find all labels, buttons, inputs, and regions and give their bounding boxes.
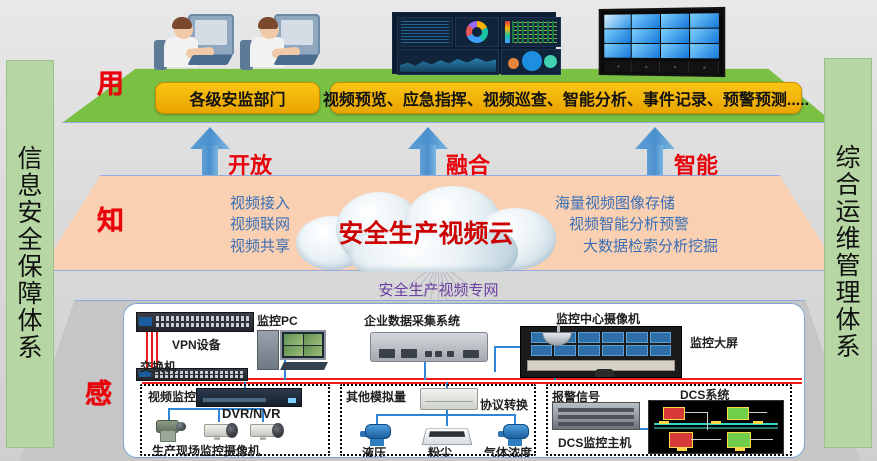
arrow-label-smart: 智能: [674, 148, 718, 180]
bullet-camera-icon: [204, 422, 238, 440]
group-item-gas: 气体浓度: [484, 444, 532, 458]
data-collector-icon: [370, 332, 488, 362]
group-item-dust: 粉尘: [428, 444, 452, 458]
dome-camera-icon: [542, 324, 572, 346]
panel-char: 系: [17, 335, 42, 362]
panel-char: 安: [17, 200, 42, 227]
bullet-camera-icon: [250, 422, 284, 440]
arrow-label-open: 开放: [228, 148, 272, 180]
cloud-label: 安全生产视频云: [288, 214, 564, 250]
dashboard-donut-panel: [455, 17, 499, 47]
dashboard-heatmap-panel: [501, 17, 561, 47]
bi-dashboard-illustration: [392, 12, 556, 74]
group-item-protocol: 协议转换: [480, 396, 528, 413]
group-title-analog: 其他模拟量: [346, 388, 406, 405]
cloud-left-item: 视频共享: [150, 236, 290, 257]
layer-label-zhi: 知: [97, 199, 124, 238]
panel-char: 息: [17, 173, 42, 200]
device-label-switch: 交换机: [140, 358, 176, 375]
cloud-right-item: 视频智能分析预警: [555, 214, 785, 235]
group-item-hydraulic: 液压: [362, 444, 386, 458]
device-label-vpn: VPN设备: [172, 336, 221, 353]
operators-illustration: [150, 8, 330, 72]
device-topology-panel: VPN设备 交换机 监控PC 企业数据采集系统 监控中心摄像机: [123, 303, 805, 458]
layer-label-gan: 感: [85, 372, 112, 411]
keyboard-icon: [187, 55, 232, 65]
device-label-collector: 企业数据采集系统: [364, 312, 460, 329]
panel-char: 全: [17, 227, 42, 254]
device-label-center-camera: 监控中心摄像机: [556, 310, 640, 327]
panel-char: 理: [835, 280, 860, 307]
operator-person: [150, 14, 236, 72]
panel-char: 障: [17, 281, 42, 308]
group-item-dcs-host: DCS监控主机: [558, 434, 631, 451]
group-item-site-cameras: 生产现场监控摄像机: [152, 442, 260, 458]
dashboard-table-panel: [397, 17, 453, 47]
cloud-left-items: 视频接入 视频联网 视频共享: [150, 193, 290, 257]
cloud-left-item: 视频联网: [150, 214, 290, 235]
cloud-shape: 安全生产视频云: [288, 186, 564, 270]
vpn-device-icon: [136, 312, 254, 332]
arrow-fuse: [408, 127, 448, 175]
panel-char: 运: [835, 199, 860, 226]
panel-char: 信: [17, 146, 42, 173]
network-label-text: 安全生产视频专网: [378, 282, 498, 299]
device-label-big-screen: 监控大屏: [690, 334, 738, 351]
video-wall-base: [604, 60, 719, 73]
network-label: 安全生产视频专网: [0, 279, 877, 300]
dept-box[interactable]: 各级安监部门: [155, 82, 320, 114]
side-panel-information-security: 信 息 安 全 保 障 体 系: [6, 60, 54, 448]
panel-char: 管: [835, 253, 860, 280]
panel-char: 保: [17, 254, 42, 281]
operator-person: [236, 14, 322, 72]
dvr-nvr-icon: [196, 388, 302, 407]
side-panel-operations-management: 综 合 运 维 管 理 体 系: [824, 58, 872, 448]
panel-char: 维: [835, 226, 860, 253]
group-title-video: 视频监控: [148, 388, 196, 405]
cloud-left-item: 视频接入: [150, 193, 290, 214]
function-box[interactable]: 视频预览、应急指挥、视频巡查、智能分析、事件记录、预警预测.....: [330, 82, 802, 114]
panel-char: 合: [835, 172, 860, 199]
hydraulic-sensor-icon: [360, 424, 394, 446]
panel-char: 体: [835, 307, 860, 334]
arrow-open: [190, 127, 230, 175]
pc-monitor-icon: [280, 330, 326, 360]
pc-keyboard-icon: [280, 362, 328, 370]
panel-char: 体: [17, 308, 42, 335]
ptz-camera-icon: [154, 420, 186, 442]
pc-tower-icon: [257, 330, 279, 370]
band-baseline: [62, 122, 834, 123]
panel-char: 综: [835, 145, 860, 172]
device-label-pc: 监控PC: [257, 312, 298, 329]
dust-sensor-icon: [422, 428, 473, 445]
arrow-smart: [635, 127, 675, 175]
dcs-scada-screen: [648, 400, 784, 454]
cloud-right-item: 大数据检索分析挖掘: [555, 236, 785, 257]
cloud-right-item: 海量视频图像存储: [555, 193, 785, 214]
video-wall-illustration: [599, 7, 726, 77]
arrow-label-fuse: 融合: [446, 148, 490, 180]
video-wall-grid: [604, 13, 719, 58]
dashboard-area-panel: [397, 49, 499, 75]
cloud-right-items: 海量视频图像存储 视频智能分析预警 大数据检索分析挖掘: [555, 193, 785, 257]
dashboard-bubble-panel: [501, 49, 561, 75]
gas-sensor-icon: [498, 424, 532, 446]
protocol-converter-icon: [420, 388, 478, 410]
dcs-host-icon: [552, 402, 640, 430]
keyboard-icon: [273, 55, 318, 65]
layer-label-yong: 用: [97, 62, 124, 101]
group-item-dvr: DVR/NVR: [222, 406, 281, 421]
panel-char: 系: [835, 334, 860, 361]
architecture-diagram: 各级安监部门 视频预览、应急指挥、视频巡查、智能分析、事件记录、预警预测....…: [0, 0, 877, 461]
